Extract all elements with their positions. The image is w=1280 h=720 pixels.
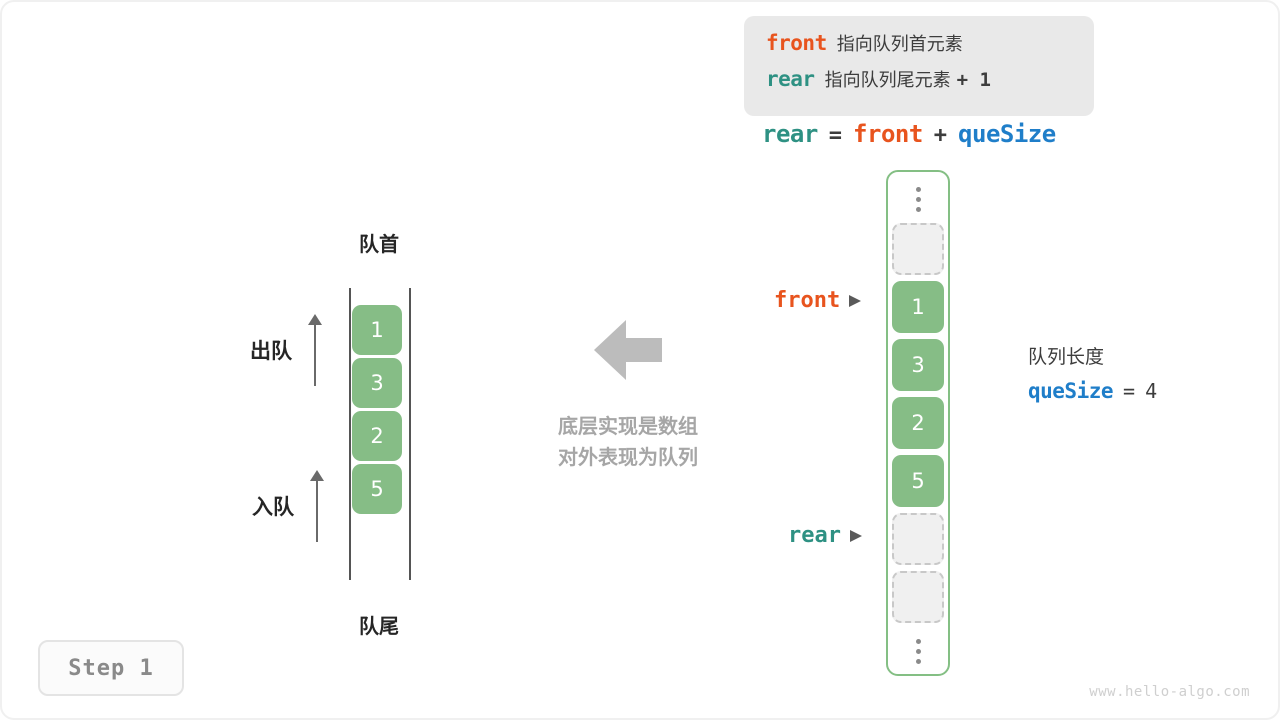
quesize-value: 4	[1145, 379, 1157, 403]
array-cell-1: 3	[892, 339, 944, 391]
formula-equals: =	[829, 123, 842, 148]
up-arrow-enqueue-icon	[310, 470, 324, 542]
operation-enqueue: 入队	[252, 470, 324, 542]
legend-text-front: 指向队列首元素	[837, 30, 963, 56]
array-top-ellipsis-icon	[916, 177, 921, 223]
quesize-title: 队列长度	[1028, 342, 1157, 369]
formula-rear: rear	[762, 120, 818, 148]
formula-expression: rear = front + queSize	[762, 120, 1056, 148]
queue-cell-1: 3	[352, 358, 402, 408]
queue-cell-3: 5	[352, 464, 402, 514]
quesize-equals: =	[1123, 379, 1135, 403]
legend-text-rear: 指向队列尾元素	[825, 66, 951, 92]
step-badge-label: Step 1	[68, 656, 153, 681]
queue-head-label: 队首	[347, 228, 411, 257]
center-caption-line1: 底层实现是数组	[528, 411, 728, 442]
pointer-front: front	[774, 288, 861, 313]
queue-cell-stack: 1 3 2 5	[352, 305, 402, 517]
legend-keyword-rear: rear	[766, 67, 815, 91]
array-cell-3: 5	[892, 455, 944, 507]
diagram-canvas: front 指向队列首元素 rear 指向队列尾元素 + 1 rear = fr…	[0, 0, 1280, 720]
array-container: 1 3 2 5	[886, 170, 950, 676]
array-bottom-ellipsis-icon	[916, 629, 921, 675]
array-cell-2: 2	[892, 397, 944, 449]
formula-quesize: queSize	[958, 120, 1056, 148]
legend-keyword-front: front	[766, 31, 827, 55]
pointer-rear-arrow-icon	[850, 530, 862, 542]
operation-dequeue: 出队	[250, 314, 322, 386]
array-cell-empty-1	[892, 513, 944, 565]
queue-cell-0: 1	[352, 305, 402, 355]
pointer-front-label: front	[774, 288, 840, 313]
legend-row-rear: rear 指向队列尾元素 + 1	[766, 66, 1094, 102]
center-caption: 底层实现是数组 对外表现为队列	[528, 411, 728, 473]
array-cell-0: 1	[892, 281, 944, 333]
pointer-rear-label: rear	[788, 523, 841, 548]
formula-plus: +	[934, 123, 947, 148]
formula-front: front	[853, 120, 923, 148]
queue-rail-left	[349, 288, 351, 580]
center-caption-line2: 对外表现为队列	[528, 442, 728, 473]
legend-box: front 指向队列首元素 rear 指向队列尾元素 + 1	[744, 16, 1094, 116]
legend-row-front: front 指向队列首元素	[766, 30, 1094, 66]
array-cell-empty-2	[892, 571, 944, 623]
quesize-name: queSize	[1028, 379, 1113, 403]
watermark: www.hello-algo.com	[1089, 684, 1250, 700]
operation-dequeue-label: 出队	[250, 335, 292, 365]
operation-enqueue-label: 入队	[252, 491, 294, 521]
quesize-annotation: 队列长度 queSize = 4	[1028, 342, 1157, 403]
queue-rail-right	[409, 288, 411, 580]
left-arrow-icon	[594, 320, 662, 380]
legend-suffix-rear: + 1	[957, 69, 991, 91]
array-cell-empty-top	[892, 223, 944, 275]
up-arrow-dequeue-icon	[308, 314, 322, 386]
step-badge: Step 1	[38, 640, 184, 696]
quesize-line: queSize = 4	[1028, 379, 1157, 403]
queue-cell-2: 2	[352, 411, 402, 461]
queue-tail-label: 队尾	[347, 610, 411, 639]
pointer-rear: rear	[788, 523, 862, 548]
pointer-front-arrow-icon	[849, 295, 861, 307]
